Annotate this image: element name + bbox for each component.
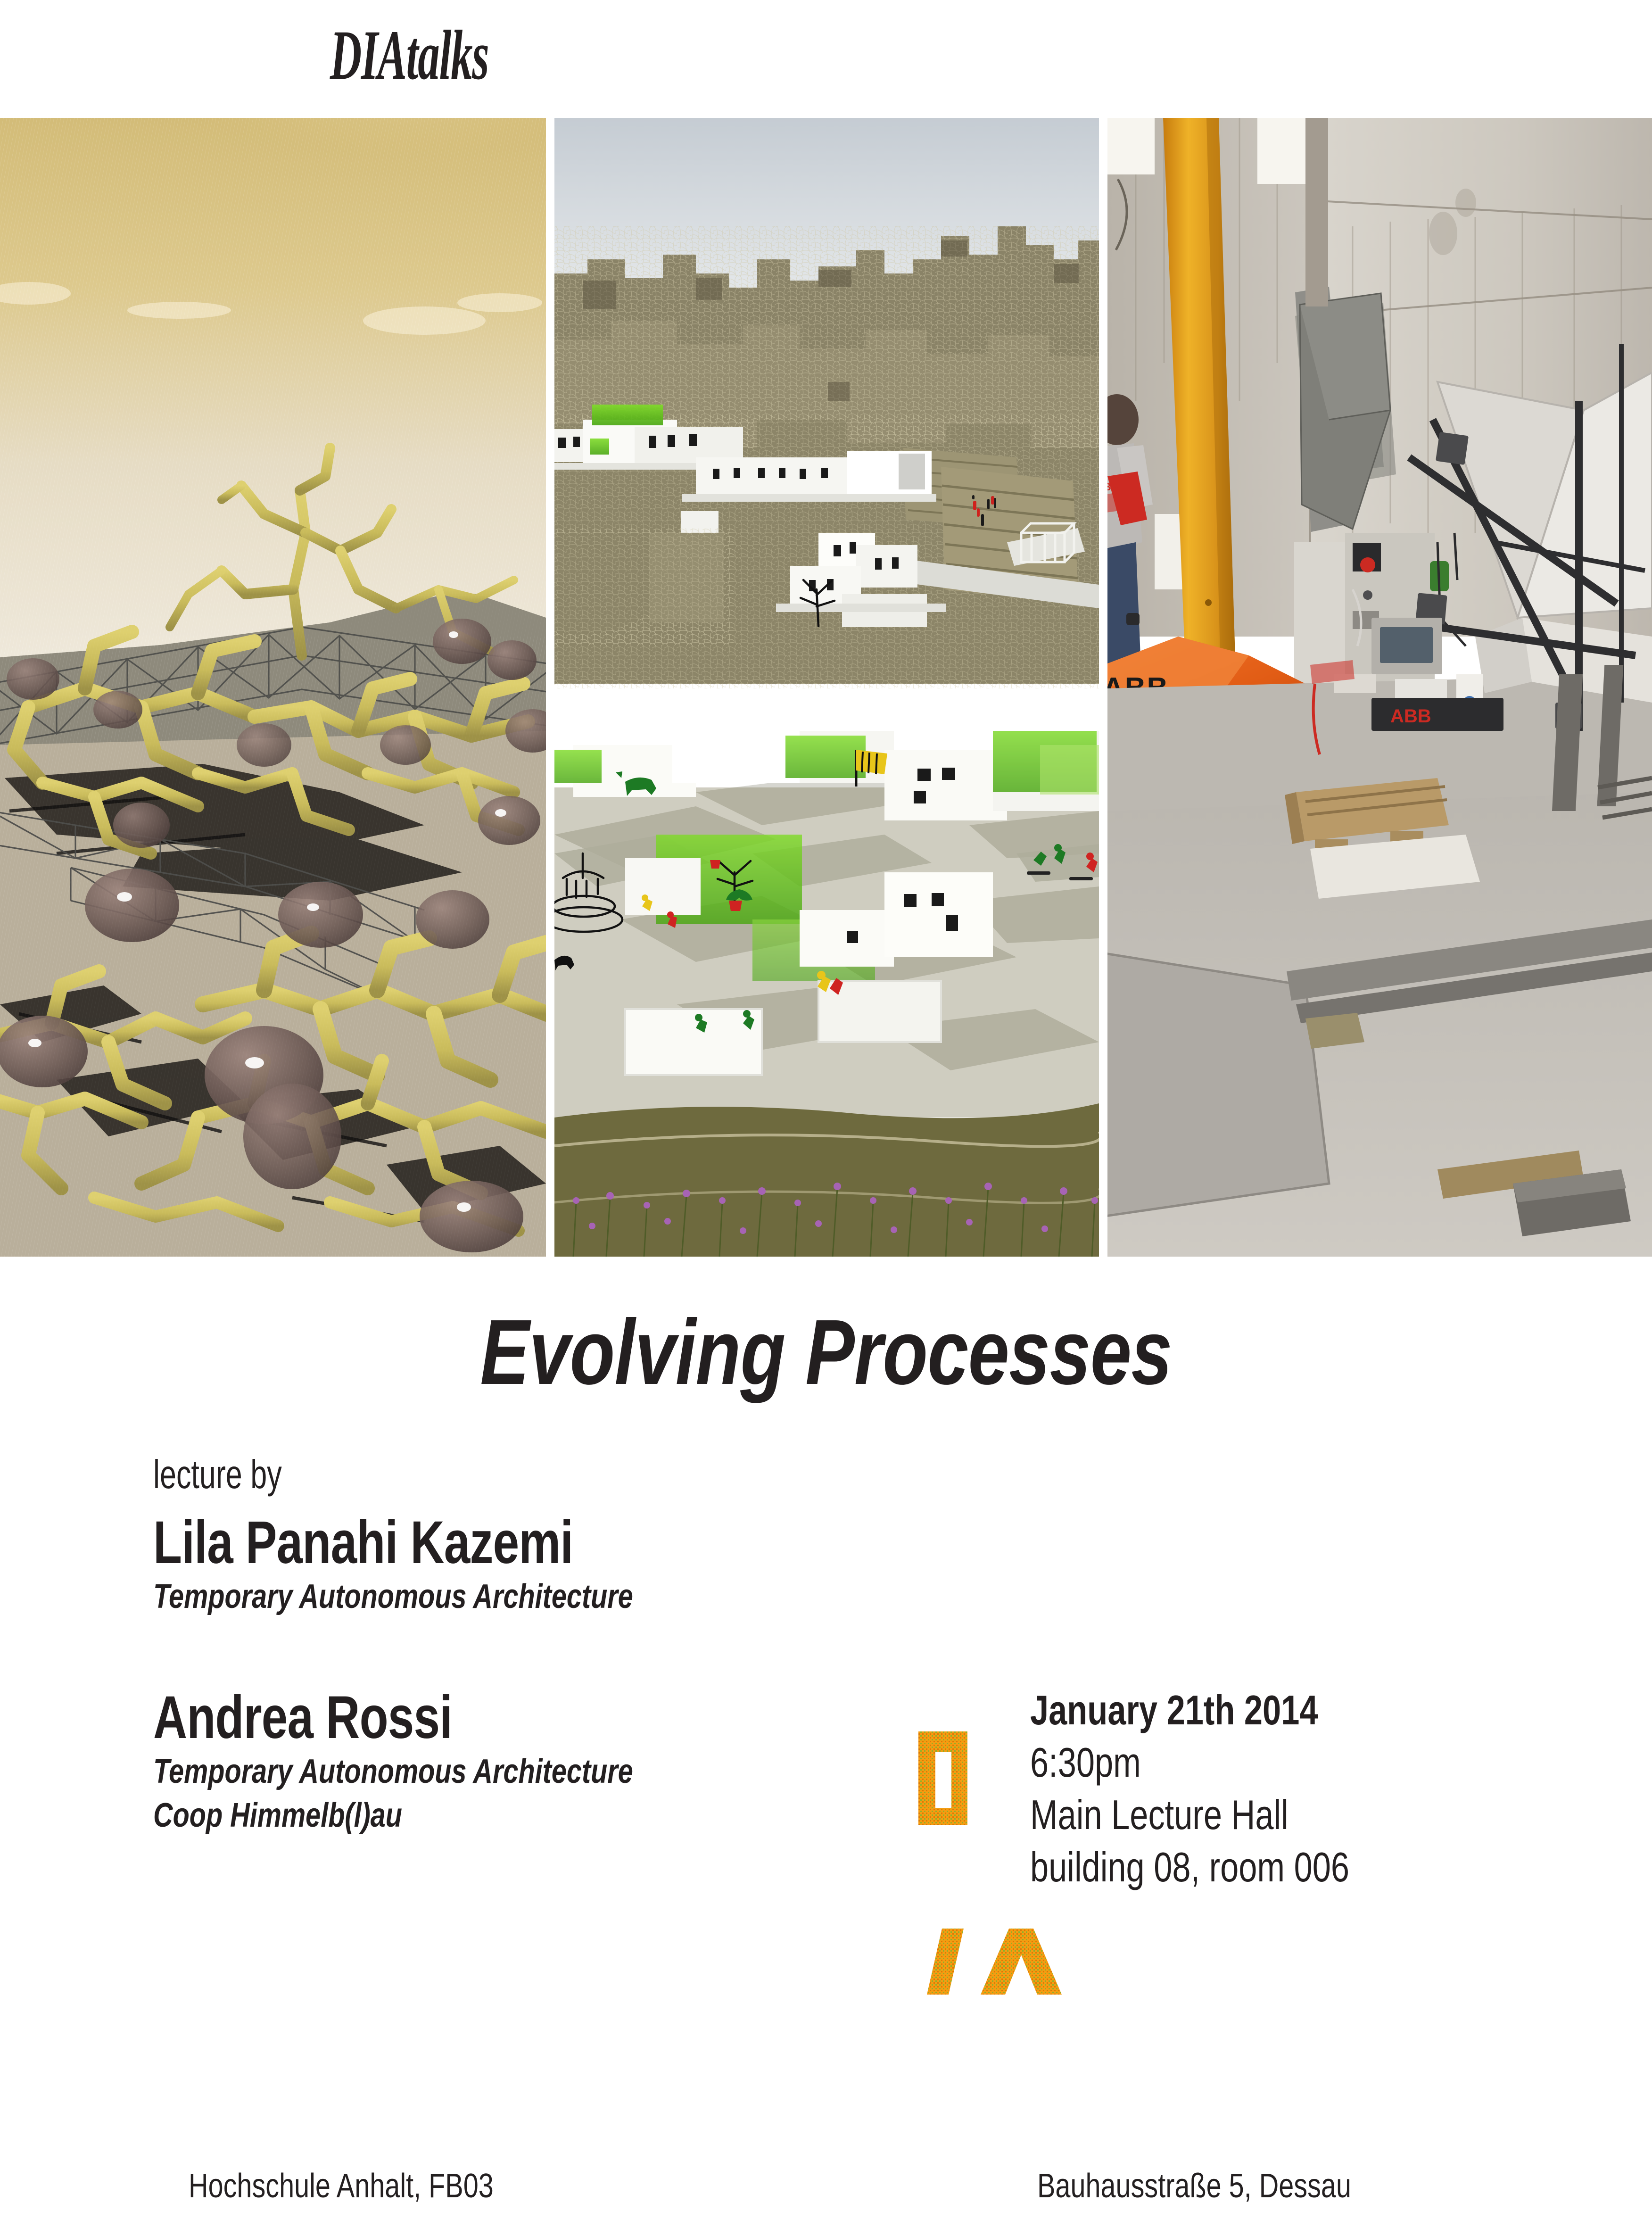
dia-letter-i xyxy=(927,1929,964,1995)
dia-letter-d xyxy=(918,1731,967,1825)
speaker-1-affiliation-1: Temporary Autonomous Architecture xyxy=(153,1577,794,1617)
image-panel-village-render xyxy=(554,118,1099,1257)
page-title: Evolving Processes xyxy=(0,1306,1652,1399)
svg-text:ABB: ABB xyxy=(1390,706,1431,727)
brand-header: DIAtalks xyxy=(0,0,1652,118)
lecture-by-label: lecture by xyxy=(153,1455,746,1495)
footer-institution: Hochschule Anhalt, FB03 xyxy=(189,2169,494,2203)
footer: Hochschule Anhalt, FB03 Bauhausstraße 5,… xyxy=(0,2156,1652,2219)
event-details: January 21th 2014 6:30pm Main Lecture Ha… xyxy=(1030,1684,1619,1894)
diatalks-logo: DIAtalks xyxy=(330,20,488,91)
speaker-1-name: Lila Panahi Kazemi xyxy=(153,1513,778,1573)
image-band: ABB ABB xyxy=(0,118,1652,1257)
image-panel-robot-photo: ABB ABB xyxy=(1107,118,1652,1257)
speakers-block: lecture by Lila Panahi Kazemi Temporary … xyxy=(153,1455,955,1836)
speaker-2-name: Andrea Rossi xyxy=(153,1688,778,1748)
footer-address: Bauhausstraße 5, Dessau xyxy=(1037,2169,1351,2203)
image-panel-organic-render xyxy=(0,118,546,1257)
svg-text:ABB: ABB xyxy=(1107,481,1119,493)
speaker-entry-1: Lila Panahi Kazemi Temporary Autonomous … xyxy=(153,1513,955,1617)
speaker-entry-2: Andrea Rossi Temporary Autonomous Archit… xyxy=(153,1688,955,1836)
headline-text: Evolving Processes xyxy=(480,1306,1172,1399)
speaker-2-affiliation-1: Temporary Autonomous Architecture xyxy=(153,1752,794,1792)
dia-logo-mark xyxy=(915,1726,1113,2103)
speaker-2-affiliation-2: Coop Himmelb(l)au xyxy=(153,1796,794,1836)
dia-letter-a xyxy=(981,1929,1062,1995)
